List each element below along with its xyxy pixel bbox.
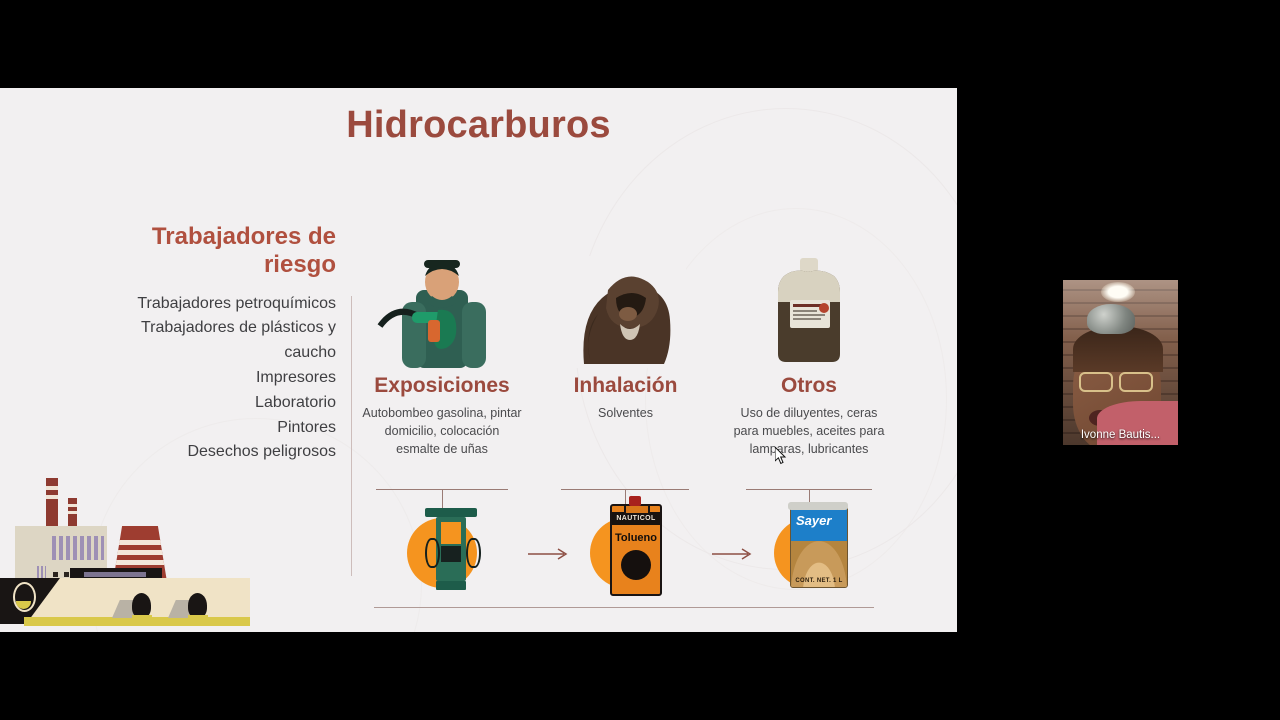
list-item: Laboratorio [86,391,336,416]
arrow-right-icon [528,548,572,560]
slide-title: Hidrocarburos [0,104,957,147]
list-item: Trabajadores petroquímicos [86,292,336,317]
column-description: Solventes [548,405,703,423]
person-inhaling-image [548,253,703,368]
column-inhalacion: Inhalación Solventes [548,253,703,423]
sayer-paint-can-icon: Sayer CONT. NET. 1 L [790,506,848,588]
list-item: Impresores [86,366,336,391]
risk-workers-panel: Trabajadores de riesgo Trabajadores petr… [86,223,336,465]
gas-station-attendant-image [362,253,522,368]
factory-ship-illustration [0,472,250,632]
column-otros: Otros Uso de diluyentes, ceras para mueb… [733,253,885,458]
list-item: Trabajadores de plásticos y caucho [86,316,336,366]
shared-slide: Hidrocarburos Trabajadores de riesgo Tra… [0,88,957,632]
list-item: Desechos peligrosos [86,440,336,465]
smokestack [46,478,58,532]
sayer-net-label: CONT. NET. 1 L [791,578,847,584]
tolueno-label-oval [621,550,651,580]
column-heading: Exposiciones [362,374,522,398]
arrow-right-icon [712,548,756,560]
porthole [13,582,36,612]
vertical-divider [351,296,352,576]
column-description: Autobombeo gasolina, pintar domicilio, c… [362,405,522,458]
gas-pump-icon [425,508,477,592]
zoom-screen-share-window: Hidrocarburos Trabajadores de riesgo Tra… [0,0,1280,720]
participant-video-tile[interactable]: Ivonne Bautis... [1063,280,1178,445]
column-heading: Otros [733,374,885,398]
can-lid [788,502,848,510]
mouse-cursor [775,447,787,465]
can-cap [629,496,641,506]
risk-workers-list: Trabajadores petroquímicos Trabajadores … [86,292,336,466]
jerrycan-lamp-oil-image [733,253,885,368]
tolueno-name-label: Tolueno [612,532,660,544]
sayer-brand-label: Sayer [796,513,831,528]
list-item: Pintores [86,416,336,441]
bottom-rule [374,607,874,608]
column-exposiciones: Exposiciones Autobombeo gasolina, pintar… [362,253,522,458]
hair-accessory [1087,304,1135,334]
tolueno-can-icon: NAUTICOL Tolueno [610,504,662,596]
column-heading: Inhalación [548,374,703,398]
ceiling-light [1101,282,1135,302]
column-description: Uso de diluyentes, ceras para muebles, a… [733,405,885,458]
participant-name-label: Ivonne Bautis... [1063,429,1178,441]
risk-workers-heading: Trabajadores de riesgo [86,223,336,280]
eyeglasses-icon [1079,372,1153,388]
